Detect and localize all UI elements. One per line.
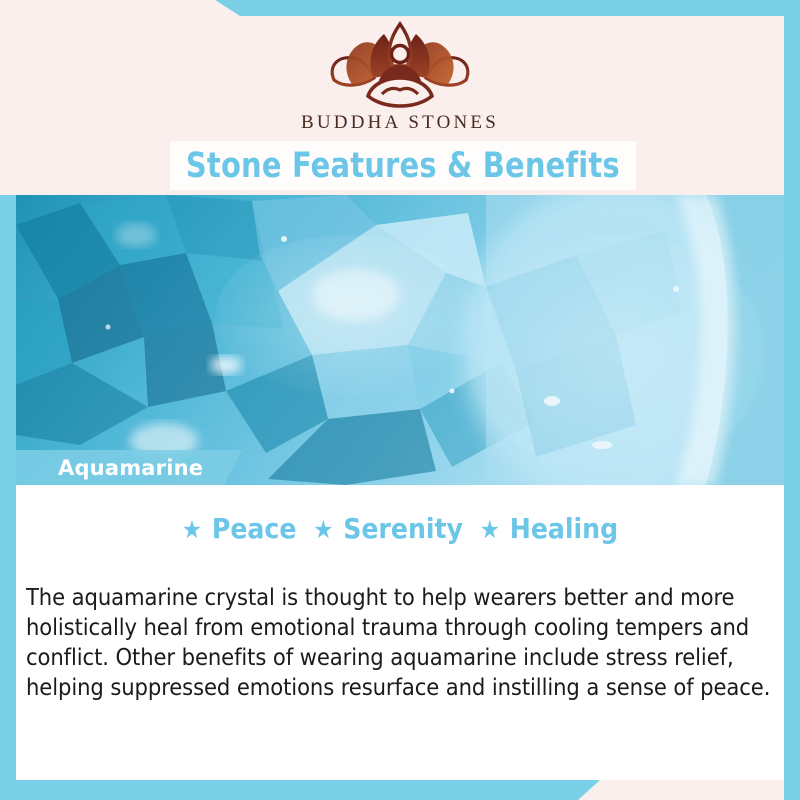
star-icon: ★ bbox=[480, 515, 508, 544]
decor-band-bottom bbox=[0, 780, 800, 800]
star-icon: ★ bbox=[313, 515, 341, 544]
stone-name-label: Aquamarine bbox=[58, 456, 203, 480]
stone-name-ribbon: Aquamarine bbox=[16, 450, 242, 485]
keyword-list: ★ Peace ★ Serenity ★ Healing bbox=[0, 512, 800, 545]
description-text: The aquamarine crystal is thought to hel… bbox=[26, 582, 774, 702]
keyword-item: ★ Peace bbox=[182, 512, 297, 545]
keyword-label: Serenity bbox=[343, 512, 463, 545]
infographic-card: BUDDHA STONES Stone Features & Benefits bbox=[0, 0, 800, 800]
keyword-item: ★ Healing bbox=[480, 512, 618, 545]
page-title-text: Stone Features & Benefits bbox=[186, 146, 620, 186]
keyword-item: ★ Serenity bbox=[313, 512, 463, 545]
star-icon: ★ bbox=[182, 515, 210, 544]
lotus-meditation-icon bbox=[0, 18, 800, 110]
brand-logo: BUDDHA STONES bbox=[0, 18, 800, 134]
keyword-label: Peace bbox=[212, 512, 297, 545]
decor-band-left bbox=[0, 195, 16, 800]
aquamarine-crystal-photo bbox=[16, 195, 784, 485]
keyword-label: Healing bbox=[510, 512, 618, 545]
page-title: Stone Features & Benefits bbox=[170, 141, 636, 190]
brand-name: BUDDHA STONES bbox=[0, 112, 800, 134]
